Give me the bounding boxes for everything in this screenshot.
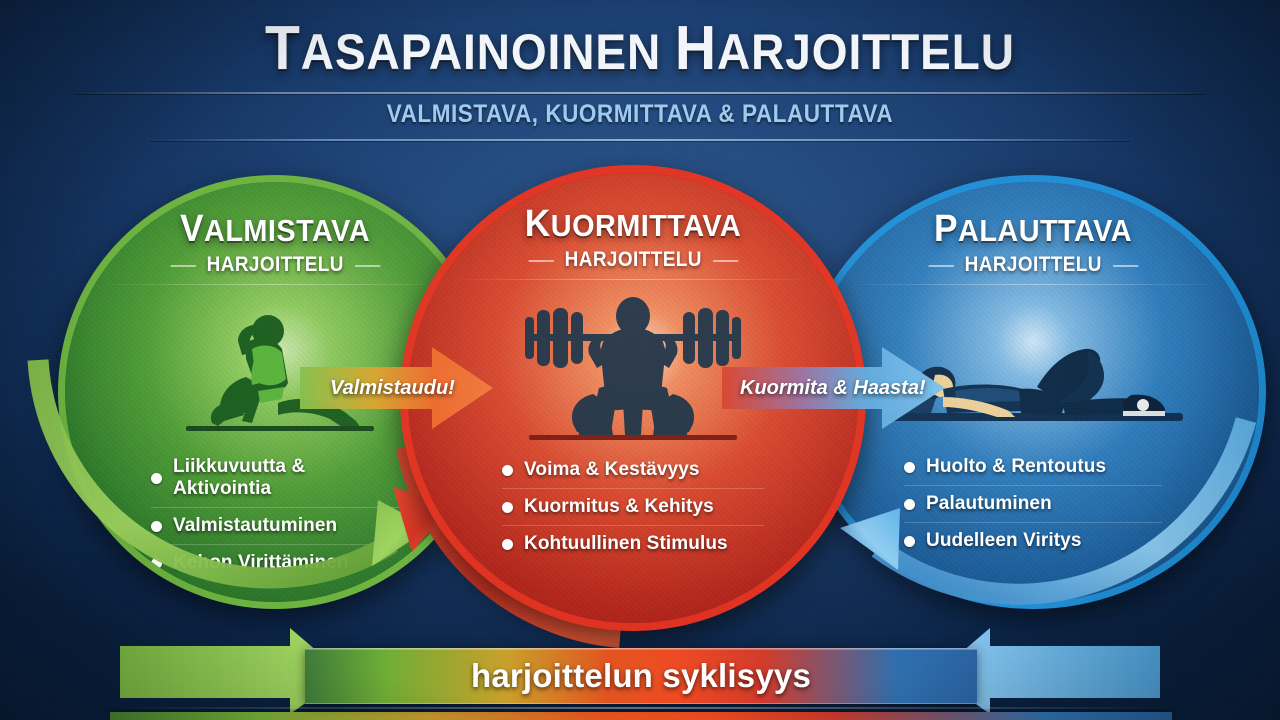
bridge-label: Kuormita & Haasta!	[740, 377, 926, 400]
list-item: Liikkuvuutta & Aktivointia	[151, 449, 399, 507]
stage-subtitle: Harjoittelu	[964, 253, 1101, 277]
stage-bullet-list: Voima & Kestävyys Kuormitus & Kehitys Ko…	[502, 452, 764, 562]
list-item: Kohtuullinen Stimulus	[502, 525, 764, 562]
infographic-canvas: TASAPAINOINEN HARJOITTELU Valmistava, Ku…	[0, 0, 1280, 720]
stage-bullet-list: Huolto & Rentoutus Palautuminen Uudellee…	[904, 449, 1162, 559]
footer-divider	[110, 707, 1172, 709]
list-item: Kehon Virittäminen	[151, 544, 399, 581]
list-item: Uudelleen Viritys	[904, 522, 1162, 559]
stage-bullet-list: Liikkuvuutta & Aktivointia Valmistautumi…	[151, 449, 399, 581]
list-item: Voima & Kestävyys	[502, 452, 764, 488]
bridge-label: Valmistaudu!	[330, 377, 455, 400]
stage-header: PALAUTTAVA Harjoittelu	[845, 208, 1221, 285]
bullet-text: Kohtuullinen Stimulus	[524, 533, 728, 555]
list-item: Valmistautuminen	[151, 507, 399, 544]
bullet-dot-icon	[502, 539, 513, 550]
bullet-text: Kuormitus & Kehitys	[524, 496, 714, 518]
stage-subtitle: Harjoittelu	[564, 248, 701, 272]
stage-subtitle: Harjoittelu	[206, 253, 343, 277]
bridge-kuormita-haasta[interactable]: Kuormita & Haasta!	[722, 345, 947, 431]
header-divider-bottom	[150, 139, 1130, 141]
stage-title: PALAUTTAVA	[858, 208, 1208, 251]
footer-gradient-bar	[110, 712, 1172, 720]
bullet-dot-icon	[151, 521, 162, 532]
bullet-text: Kehon Virittäminen	[173, 552, 349, 574]
list-item: Huolto & Rentoutus	[904, 449, 1162, 485]
stage-title: KUORMITTAVA	[463, 203, 803, 246]
bullet-text: Voima & Kestävyys	[524, 459, 700, 481]
stage-title: VALMISTAVA	[111, 208, 438, 251]
bullet-text: Valmistautuminen	[173, 515, 337, 537]
header: TASAPAINOINEN HARJOITTELU Valmistava, Ku…	[0, 0, 1280, 150]
page-subtitle: Valmistava, Kuormittava & Palauttava	[64, 100, 1216, 129]
header-divider-top	[75, 92, 1205, 94]
cycle-banner[interactable]: harjoittelun syklisyys	[305, 648, 977, 704]
bullet-text: Liikkuvuutta & Aktivointia	[173, 456, 399, 500]
bullet-dot-icon	[151, 558, 162, 569]
bridge-valmistaudu[interactable]: Valmistaudu!	[300, 345, 495, 431]
bullet-dot-icon	[904, 536, 915, 547]
page-title: TASAPAINOINEN HARJOITTELU	[51, 0, 1229, 79]
list-item: Palautuminen	[904, 485, 1162, 522]
bullet-dot-icon	[904, 499, 915, 510]
bullet-dot-icon	[502, 465, 513, 476]
bullet-text: Uudelleen Viritys	[926, 530, 1082, 552]
cycle-banner-label: harjoittelun syklisyys	[471, 657, 811, 695]
bullet-text: Palautuminen	[926, 493, 1052, 515]
list-item: Kuormitus & Kehitys	[502, 488, 764, 525]
stage-header: KUORMITTAVA Harjoittelu	[450, 203, 816, 280]
bullet-text: Huolto & Rentoutus	[926, 456, 1106, 478]
bullet-dot-icon	[151, 473, 162, 484]
bullet-dot-icon	[502, 502, 513, 513]
bullet-dot-icon	[904, 462, 915, 473]
stage-header: VALMISTAVA Harjoittelu	[99, 208, 451, 285]
